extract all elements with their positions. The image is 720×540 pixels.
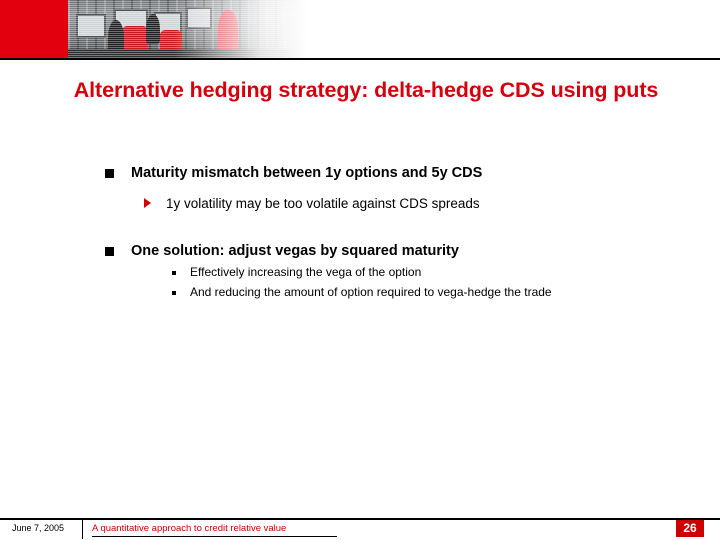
small-square-bullet-icon <box>172 291 176 295</box>
square-bullet-icon <box>105 247 114 256</box>
brand-red-block <box>0 0 68 58</box>
bullet-level3: And reducing the amount of option requir… <box>0 284 720 301</box>
bullet-level2-text: 1y volatility may be too volatile agains… <box>166 196 480 211</box>
slide-title: Alternative hedging strategy: delta-hedg… <box>36 78 696 103</box>
footer-date: June 7, 2005 <box>12 523 64 533</box>
page-number-badge: 26 <box>676 520 704 537</box>
bullet-level2: 1y volatility may be too volatile agains… <box>0 194 720 213</box>
square-bullet-icon <box>105 169 114 178</box>
bullet-level1: Maturity mismatch between 1y options and… <box>0 163 720 183</box>
presentation-slide: Alternative hedging strategy: delta-hedg… <box>0 0 720 540</box>
bullet-group: Maturity mismatch between 1y options and… <box>0 163 720 213</box>
bullet-level3-text: And reducing the amount of option requir… <box>190 285 552 299</box>
bullet-level1: One solution: adjust vegas by squared ma… <box>0 241 720 261</box>
bullet-level3-text: Effectively increasing the vega of the o… <box>190 265 421 279</box>
header-divider-rule <box>0 58 720 60</box>
photo-white-fade-overlay <box>68 0 308 58</box>
small-square-bullet-icon <box>172 271 176 275</box>
slide-header-band <box>0 0 720 58</box>
footer-subject-title: A quantitative approach to credit relati… <box>92 523 286 534</box>
bullet-level3: Effectively increasing the vega of the o… <box>0 264 720 281</box>
footer-divider-rule <box>0 518 720 520</box>
slide-body: Maturity mismatch between 1y options and… <box>0 150 720 301</box>
trading-floor-photo <box>68 0 308 58</box>
footer-subject-underline <box>92 536 337 537</box>
footer-vertical-divider <box>82 520 83 539</box>
bullet-level1-text: Maturity mismatch between 1y options and… <box>131 165 482 181</box>
triangle-bullet-icon <box>144 198 151 208</box>
bullet-level1-text: One solution: adjust vegas by squared ma… <box>131 243 459 259</box>
bullet-group: One solution: adjust vegas by squared ma… <box>0 241 720 301</box>
